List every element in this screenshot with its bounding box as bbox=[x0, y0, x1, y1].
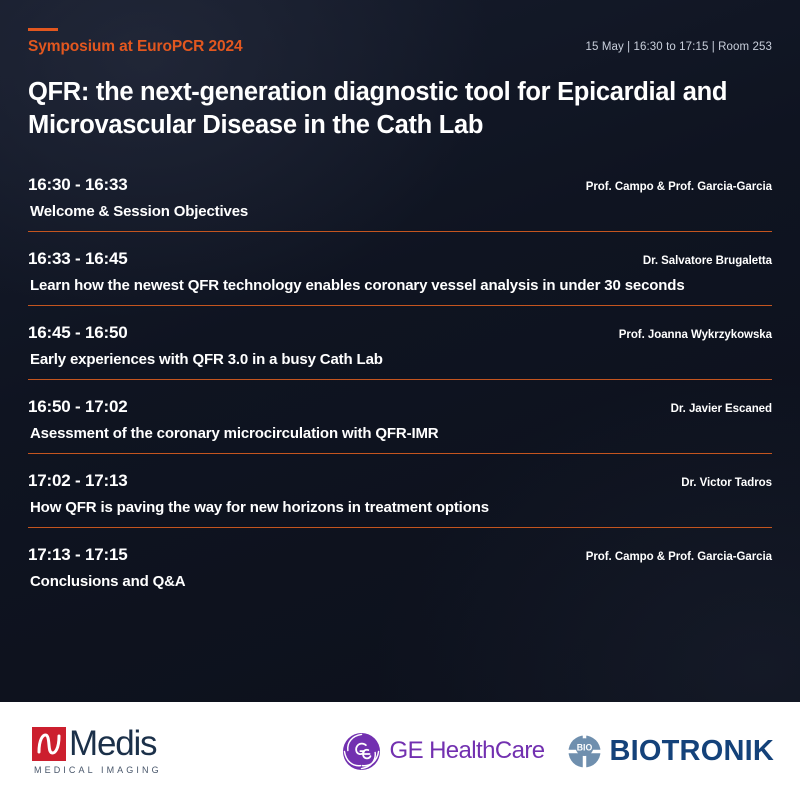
slot-speaker: Prof. Campo & Prof. Garcia-Garcia bbox=[586, 551, 772, 563]
biotronik-logo: BIO BIOTRONIK bbox=[568, 735, 774, 768]
svg-text:BIO: BIO bbox=[577, 742, 593, 752]
row-divider bbox=[28, 453, 772, 454]
agenda-row-header: 17:13 - 17:15 Prof. Campo & Prof. Garcia… bbox=[28, 545, 772, 565]
row-divider bbox=[28, 231, 772, 232]
slot-time: 17:02 - 17:13 bbox=[28, 471, 127, 491]
session-meta: 15 May | 16:30 to 17:15 | Room 253 bbox=[586, 41, 772, 55]
kicker-group: Symposium at EuroPCR 2024 bbox=[28, 28, 243, 55]
accent-bar-icon bbox=[28, 28, 58, 31]
agenda-list: 16:30 - 16:33 Prof. Campo & Prof. Garcia… bbox=[28, 167, 772, 599]
slot-topic: Welcome & Session Objectives bbox=[28, 203, 772, 220]
agenda-row-header: 16:33 - 16:45 Dr. Salvatore Brugaletta bbox=[28, 249, 772, 269]
slot-speaker: Prof. Campo & Prof. Garcia-Garcia bbox=[586, 181, 772, 193]
slot-topic: Conclusions and Q&A bbox=[28, 573, 772, 590]
agenda-row-header: 16:30 - 16:33 Prof. Campo & Prof. Garcia… bbox=[28, 175, 772, 195]
agenda-row: 17:02 - 17:13 Dr. Victor Tadros How QFR … bbox=[28, 463, 772, 537]
medis-tagline: MEDICAL IMAGING bbox=[32, 765, 162, 775]
agenda-row: 16:30 - 16:33 Prof. Campo & Prof. Garcia… bbox=[28, 167, 772, 241]
slot-topic: Learn how the newest QFR technology enab… bbox=[28, 277, 772, 294]
slot-speaker: Dr. Salvatore Brugaletta bbox=[643, 255, 772, 267]
sponsor-footer: Medis MEDICAL IMAGING bbox=[0, 702, 800, 800]
medis-wordmark: Medis bbox=[69, 728, 156, 760]
agenda-row: 16:33 - 16:45 Dr. Salvatore Brugaletta L… bbox=[28, 241, 772, 315]
symposium-kicker: Symposium at EuroPCR 2024 bbox=[28, 38, 243, 55]
poster-dark-panel: Symposium at EuroPCR 2024 15 May | 16:30… bbox=[0, 0, 800, 702]
slot-speaker: Dr. Javier Escaned bbox=[671, 403, 772, 415]
poster-header: Symposium at EuroPCR 2024 15 May | 16:30… bbox=[28, 0, 772, 141]
slot-speaker: Dr. Victor Tadros bbox=[681, 477, 772, 489]
page-title: QFR: the next-generation diagnostic tool… bbox=[28, 76, 768, 141]
medis-logo: Medis MEDICAL IMAGING bbox=[32, 727, 162, 775]
ge-wordmark: GE HealthCare bbox=[390, 737, 545, 765]
agenda-row: 16:50 - 17:02 Dr. Javier Escaned Asessme… bbox=[28, 389, 772, 463]
ge-monogram-icon bbox=[342, 732, 381, 771]
slot-time: 16:30 - 16:33 bbox=[28, 175, 127, 195]
slot-topic: How QFR is paving the way for new horizo… bbox=[28, 499, 772, 516]
biotronik-bio-icon: BIO bbox=[568, 735, 601, 768]
agenda-row: 16:45 - 16:50 Prof. Joanna Wykrzykowska … bbox=[28, 315, 772, 389]
slot-time: 16:50 - 17:02 bbox=[28, 397, 127, 417]
slot-topic: Asessment of the coronary microcirculati… bbox=[28, 425, 772, 442]
row-divider bbox=[28, 527, 772, 528]
agenda-row-header: 17:02 - 17:13 Dr. Victor Tadros bbox=[28, 471, 772, 491]
agenda-row-header: 16:45 - 16:50 Prof. Joanna Wykrzykowska bbox=[28, 323, 772, 343]
agenda-row: 17:13 - 17:15 Prof. Campo & Prof. Garcia… bbox=[28, 537, 772, 599]
ge-healthcare-logo: GE HealthCare bbox=[342, 732, 545, 771]
row-divider bbox=[28, 379, 772, 380]
biotronik-wordmark: BIOTRONIK bbox=[609, 735, 774, 768]
slot-time: 17:13 - 17:15 bbox=[28, 545, 127, 565]
slot-time: 16:33 - 16:45 bbox=[28, 249, 127, 269]
agenda-row-header: 16:50 - 17:02 Dr. Javier Escaned bbox=[28, 397, 772, 417]
slot-time: 16:45 - 16:50 bbox=[28, 323, 127, 343]
partner-logos: GE HealthCare BIO BIOTRONIK bbox=[162, 732, 774, 771]
slot-topic: Early experiences with QFR 3.0 in a busy… bbox=[28, 351, 772, 368]
header-top-row: Symposium at EuroPCR 2024 15 May | 16:30… bbox=[28, 28, 772, 55]
slot-speaker: Prof. Joanna Wykrzykowska bbox=[619, 329, 772, 341]
symposium-poster: Symposium at EuroPCR 2024 15 May | 16:30… bbox=[0, 0, 800, 800]
medis-waveform-icon bbox=[32, 727, 66, 761]
row-divider bbox=[28, 305, 772, 306]
